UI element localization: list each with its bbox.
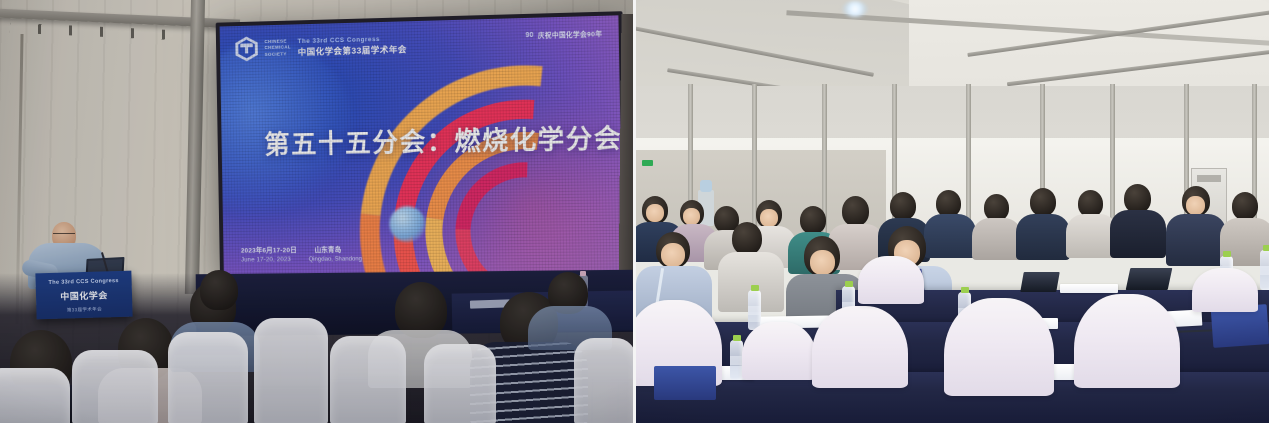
logo-english-text: CHINESE CHEMICAL SOCIETY: [264, 38, 291, 58]
slide-header: CHINESE CHEMICAL SOCIETY The 33rd CCS Co…: [235, 32, 407, 61]
audience-head: [1124, 184, 1151, 213]
attendee-laptop: [1020, 272, 1060, 292]
audience-head: [842, 196, 869, 226]
podium-banner-chinese: 中国化学会: [40, 288, 128, 303]
audience-face: [1186, 196, 1205, 215]
slide-date-location-block: 2023年6月17-20日 山东青岛 June 17-20, 2023 Qing…: [241, 244, 362, 264]
audience-head: [984, 194, 1009, 221]
chinese-chemical-society-hex-logo: [235, 36, 258, 61]
chair-cover: [1192, 268, 1258, 312]
slide-location-english: Qingdao, Shandong: [309, 256, 362, 263]
water-bottle: [748, 290, 761, 330]
chair-back: [254, 318, 328, 423]
water-bottle: [1260, 250, 1269, 290]
left-photo-presentation-screen: CHINESE CHEMICAL SOCIETY The 33rd CCS Co…: [0, 0, 633, 423]
chair-cover: [742, 322, 816, 380]
audience-head: [936, 190, 961, 217]
ceiling-light: [842, 1, 868, 17]
chair-back: [330, 336, 406, 423]
slide-surface: CHINESE CHEMICAL SOCIETY The 33rd CCS Co…: [220, 15, 623, 279]
podium-with-banner: The 33rd CCS Congress 中国化学会 第33届学术年会: [35, 271, 132, 320]
audience-face: [646, 204, 664, 222]
audience-face: [810, 250, 835, 275]
podium-banner-subtitle: 第33届学术年会: [40, 306, 128, 314]
conference-photo-pair: CHINESE CHEMICAL SOCIETY The 33rd CCS Co…: [0, 0, 1269, 423]
slide-anniversary-mark: 90 庆祝中国化学会90年: [525, 28, 602, 40]
slide-date-chinese: 2023年6月17-20日: [241, 244, 297, 254]
chair-back: [168, 332, 248, 423]
slide-glowing-sphere: [389, 206, 425, 242]
slide-location-chinese: 山东青岛: [314, 244, 341, 254]
audience-torso: [972, 218, 1022, 260]
exit-sign: [642, 160, 653, 166]
audience-head: [1030, 188, 1056, 216]
audience-face: [661, 243, 685, 267]
chair-cover: [858, 256, 924, 304]
chair-back: [0, 368, 70, 423]
chair-cover: [1074, 294, 1180, 388]
anniversary-chinese-text: 庆祝中国化学会90年: [538, 28, 603, 40]
slide-concentric-arcs: [357, 61, 623, 279]
audience-torso: [924, 214, 976, 258]
right-photo-audience: [636, 0, 1269, 423]
audience-head: [1078, 190, 1103, 217]
slide-date-english: June 17-20, 2023: [241, 256, 291, 263]
audience-torso: [1016, 214, 1070, 260]
audience-head: [1232, 192, 1258, 220]
chair-cover: [812, 306, 908, 388]
audience-face: [683, 208, 700, 225]
presentation-screen: CHINESE CHEMICAL SOCIETY The 33rd CCS Co…: [220, 15, 623, 279]
audience-torso: [1110, 210, 1166, 258]
audience-head: [200, 270, 238, 310]
chair-back: [424, 344, 496, 423]
chair-back: [574, 338, 633, 423]
slide-header-chinese: 中国化学会第33届学术年会: [298, 43, 407, 58]
table-paper: [1060, 284, 1118, 293]
audience-torso: [1166, 214, 1226, 266]
attendee-laptop: [1126, 268, 1173, 290]
chair-cover: [944, 298, 1054, 396]
slide-session-title: 第五十五分会：燃烧化学分会: [264, 119, 584, 162]
screen-side-post: [619, 14, 633, 292]
anniversary-glyph: 90: [525, 31, 533, 38]
audience-face: [760, 209, 778, 227]
audience-head: [890, 192, 916, 220]
speaker-glasses: [53, 233, 75, 238]
audience-head: [800, 206, 826, 234]
chair-back: [72, 350, 158, 423]
audience-head: [732, 222, 762, 255]
conference-bag: [654, 366, 716, 400]
